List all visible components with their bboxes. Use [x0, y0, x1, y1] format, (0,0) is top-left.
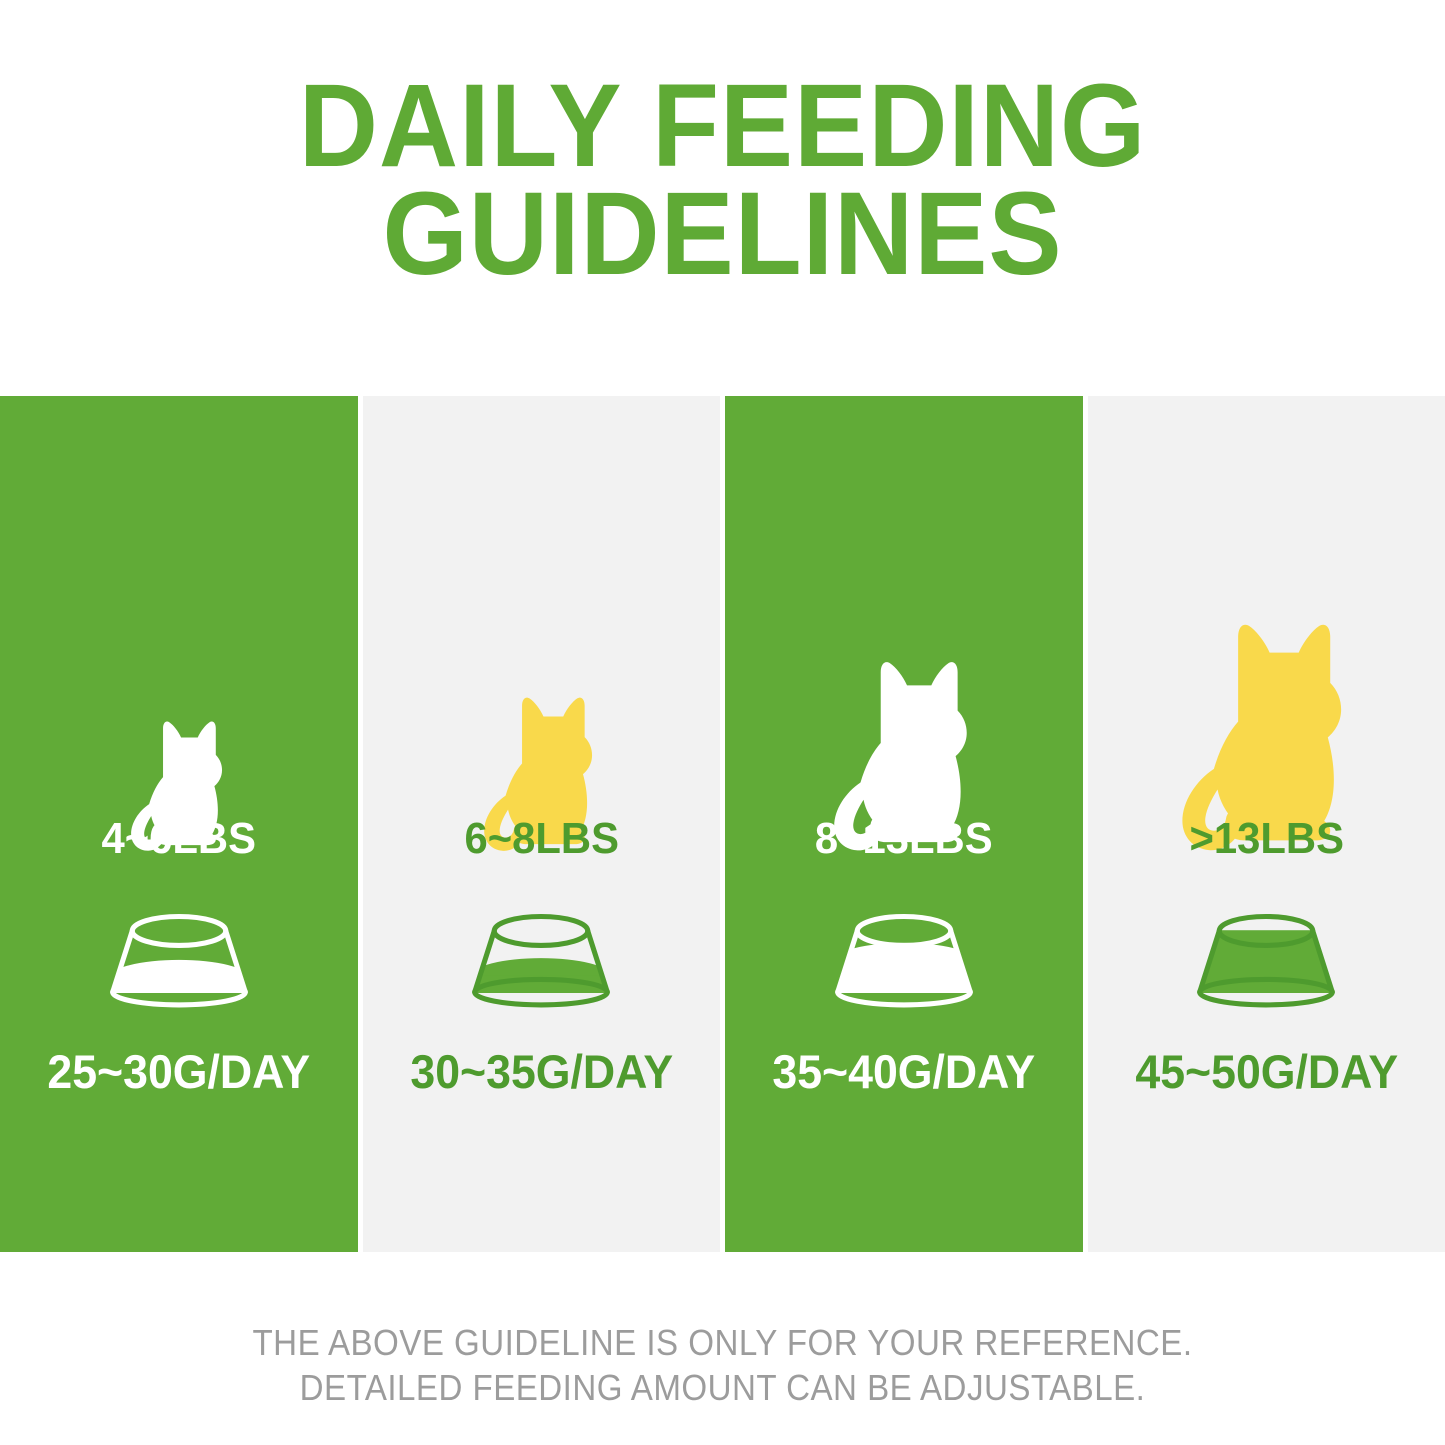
food-bowl-icon	[819, 908, 989, 1008]
bowl-illustration-1	[0, 908, 358, 1008]
feeding-column-4: >13LBS 45~50G/DAY	[1088, 396, 1445, 1252]
weight-range-label-2: 6~8LBS	[371, 814, 711, 864]
weight-range-label-3: 8~13LBS	[734, 814, 1074, 864]
bowl-illustration-3	[725, 908, 1083, 1008]
feeding-guidelines-infographic: DAILY FEEDING GUIDELINES 4~6LBS	[0, 0, 1445, 1445]
daily-amount-label-1: 25~30G/DAY	[9, 1044, 349, 1099]
page-title: DAILY FEEDING GUIDELINES	[0, 72, 1445, 288]
disclaimer-line-1: THE ABOVE GUIDELINE IS ONLY FOR YOUR REF…	[58, 1320, 1387, 1365]
title-line-2: GUIDELINES	[51, 180, 1395, 288]
daily-amount-label-4: 45~50G/DAY	[1096, 1044, 1436, 1099]
feeding-column-2: 6~8LBS 30~35G/DAY	[363, 396, 721, 1252]
food-bowl-icon	[456, 908, 626, 1008]
weight-range-label-1: 4~6LBS	[9, 814, 349, 864]
disclaimer-line-2: DETAILED FEEDING AMOUNT CAN BE ADJUSTABL…	[58, 1365, 1387, 1410]
food-bowl-icon	[94, 908, 264, 1008]
title-line-1: DAILY FEEDING	[51, 72, 1395, 180]
bowl-illustration-2	[363, 908, 721, 1008]
feeding-column-3: 8~13LBS 35~40G/DAY	[725, 396, 1083, 1252]
daily-amount-label-3: 35~40G/DAY	[734, 1044, 1074, 1099]
disclaimer-note: THE ABOVE GUIDELINE IS ONLY FOR YOUR REF…	[0, 1320, 1445, 1410]
weight-range-label-4: >13LBS	[1096, 814, 1436, 864]
food-bowl-icon	[1181, 908, 1351, 1008]
feeding-columns: 4~6LBS 25~30G/DAY	[0, 396, 1445, 1252]
daily-amount-label-2: 30~35G/DAY	[371, 1044, 711, 1099]
bowl-illustration-4	[1088, 908, 1445, 1008]
feeding-column-1: 4~6LBS 25~30G/DAY	[0, 396, 358, 1252]
